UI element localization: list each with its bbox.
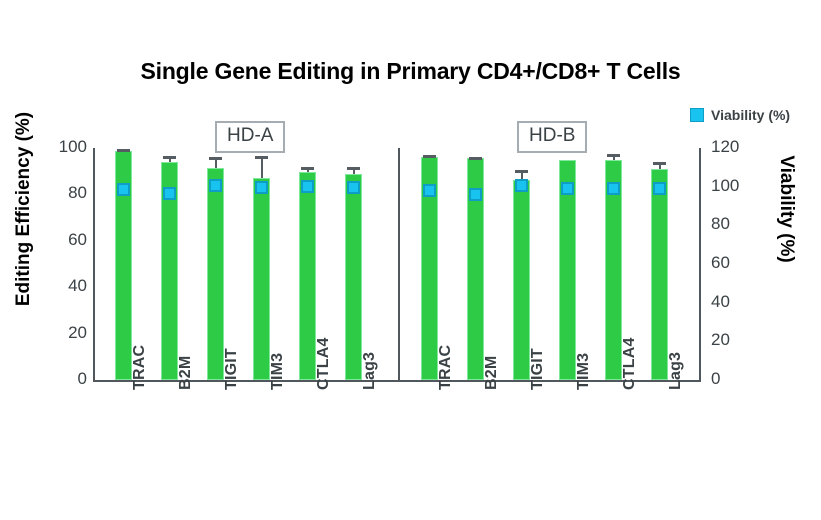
y-tick-right-40: 40 <box>711 292 771 312</box>
viability-marker-hd-a-ctla4 <box>301 180 314 193</box>
category-label-hd-b-tim3: TIM3 <box>575 353 593 390</box>
axis-line-left <box>93 148 95 382</box>
viability-marker-hd-a-tim3 <box>255 181 268 194</box>
bar-hd-a-tigit <box>207 168 224 380</box>
error-bar-cap-hd-b-b2m <box>469 157 482 160</box>
category-label-hd-b-b2m: B2M <box>483 356 501 390</box>
error-bar-cap-hd-b-lag3 <box>653 162 666 165</box>
legend-swatch-viability <box>690 108 704 122</box>
category-label-hd-a-b2m: B2M <box>177 356 195 390</box>
y-tick-right-80: 80 <box>711 214 771 234</box>
y-tick-right-100: 100 <box>711 176 771 196</box>
y-tick-right-120: 120 <box>711 137 771 157</box>
legend-label-viability: Viability (%) <box>711 107 790 123</box>
category-label-hd-b-trac: TRAC <box>437 345 455 390</box>
category-label-hd-b-ctla4: CTLA4 <box>621 337 639 390</box>
viability-marker-hd-b-b2m <box>469 188 482 201</box>
chart-title: Single Gene Editing in Primary CD4+/CD8+… <box>0 58 821 85</box>
y-tick-left-20: 20 <box>27 323 87 343</box>
viability-marker-hd-b-tigit <box>515 179 528 192</box>
category-label-hd-a-ctla4: CTLA4 <box>315 337 333 390</box>
legend: Viability (%) <box>690 107 790 123</box>
viability-marker-hd-b-ctla4 <box>607 182 620 195</box>
y-tick-right-60: 60 <box>711 253 771 273</box>
y-tick-left-0: 0 <box>27 369 87 389</box>
viability-marker-hd-a-lag3 <box>347 181 360 194</box>
error-bar-cap-hd-a-ctla4 <box>301 167 314 170</box>
error-bar-cap-hd-a-tigit <box>209 157 222 160</box>
panel-divider <box>398 148 400 380</box>
bar-hd-a-tim3 <box>253 178 270 380</box>
y-tick-left-60: 60 <box>27 230 87 250</box>
category-label-hd-a-tim3: TIM3 <box>269 353 287 390</box>
y-tick-right-20: 20 <box>711 330 771 350</box>
error-bar-hd-a-tim3 <box>261 156 263 178</box>
viability-marker-hd-b-lag3 <box>653 182 666 195</box>
error-bar-cap-hd-b-trac <box>423 155 436 158</box>
viability-marker-hd-a-b2m <box>163 187 176 200</box>
category-label-hd-a-lag3: Lag3 <box>361 352 379 390</box>
bar-hd-b-lag3 <box>651 169 668 380</box>
error-bar-cap-hd-a-b2m <box>163 156 176 159</box>
chart-figure: Single Gene Editing in Primary CD4+/CD8+… <box>0 0 821 520</box>
category-label-hd-b-lag3: Lag3 <box>667 352 685 390</box>
y-tick-left-100: 100 <box>27 137 87 157</box>
viability-marker-hd-a-trac <box>117 183 130 196</box>
error-bar-cap-hd-a-trac <box>117 149 130 152</box>
bar-hd-a-ctla4 <box>299 172 316 380</box>
error-bar-cap-hd-a-lag3 <box>347 167 360 170</box>
bar-hd-a-lag3 <box>345 174 362 380</box>
viability-marker-hd-a-tigit <box>209 179 222 192</box>
y-axis-label-right: Viability (%) <box>775 99 797 319</box>
error-bar-cap-hd-b-tigit <box>515 170 528 173</box>
y-tick-right-0: 0 <box>711 369 771 389</box>
error-bar-cap-hd-a-tim3 <box>255 156 268 159</box>
category-label-hd-a-trac: TRAC <box>131 345 149 390</box>
y-tick-left-40: 40 <box>27 276 87 296</box>
plot-area: 100806040200 120100806040200 TRACB2MTIGI… <box>93 148 701 380</box>
viability-marker-hd-b-trac <box>423 184 436 197</box>
error-bar-cap-hd-b-ctla4 <box>607 154 620 157</box>
y-tick-left-80: 80 <box>27 183 87 203</box>
category-label-hd-b-tigit: TIGIT <box>529 348 547 390</box>
category-label-hd-a-tigit: TIGIT <box>223 348 241 390</box>
viability-marker-hd-b-tim3 <box>561 182 574 195</box>
axis-line-right <box>699 148 701 382</box>
bar-hd-b-tigit <box>513 180 530 380</box>
